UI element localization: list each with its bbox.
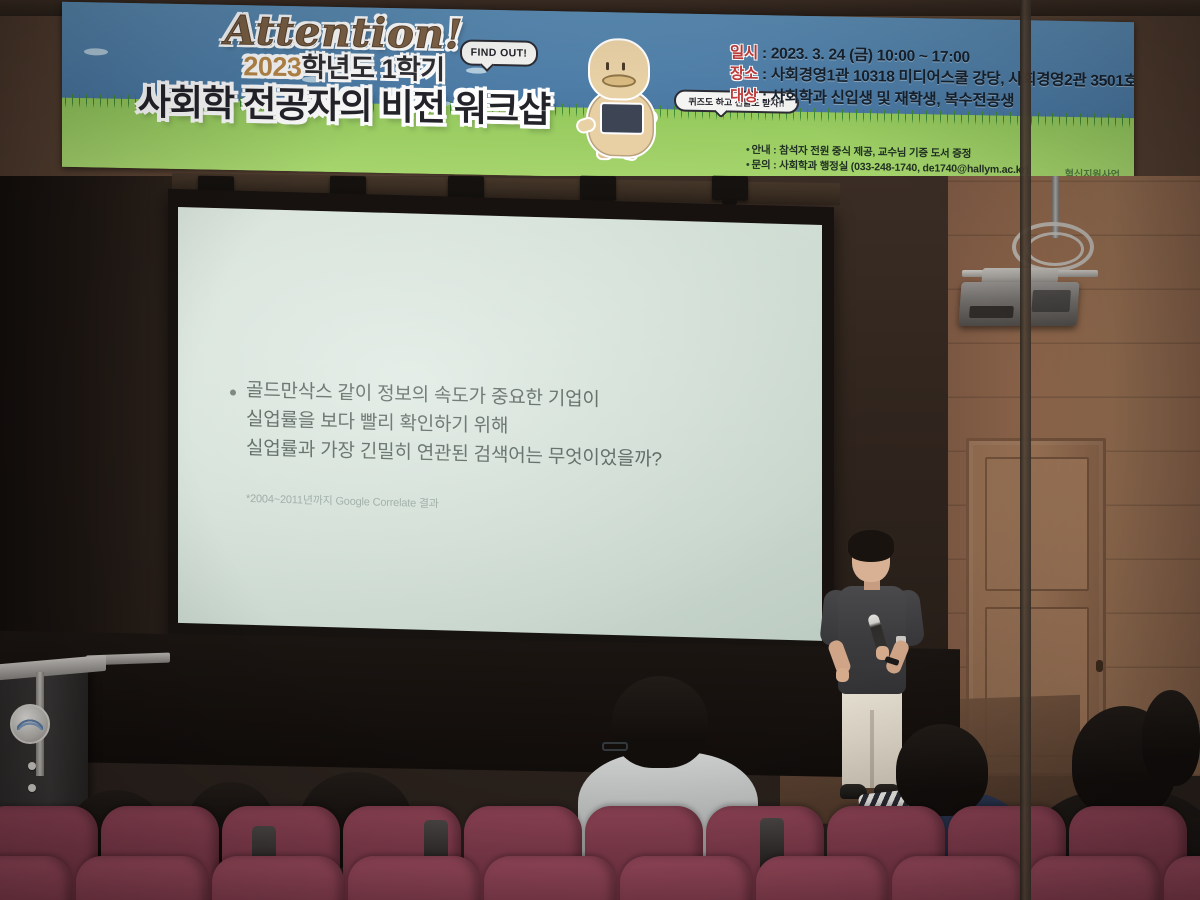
coiled-cable-icon [1026,232,1084,266]
banner-info-separator: : [762,45,771,62]
ceiling-speaker [580,176,616,201]
speech-bubble-find-out: FIND OUT! [460,39,538,66]
auditorium-seat[interactable] [620,856,752,900]
auditorium-seat[interactable] [0,856,72,900]
presenter-hair [848,530,894,560]
bullet-star-icon: • [746,144,749,156]
bullet-star-icon: • [746,159,749,171]
banner-main-title: 사회학 전공자의 비전 워크샵 [134,84,554,128]
auditorium-seat[interactable] [1164,856,1200,900]
banner-title-block: Attention! 2023학년도 1학기 사회학 전공자의 비전 워크샵 [134,9,554,128]
banner-info-value: 2023. 3. 24 (금) 10:00 ~ 17:00 [771,45,970,66]
emblem-wave-mark [17,718,43,730]
auditorium-seat[interactable] [484,856,616,900]
cloud-icon [84,48,108,55]
door-panel-upper [985,457,1089,591]
banner-year-number: 2023 [243,51,301,82]
bullet-dot-icon [230,389,236,395]
lectern-control-button[interactable] [28,784,36,792]
projector-lens-icon [969,306,1014,318]
ceiling-speaker [712,176,748,201]
banner-info-value: 사회학과 신입생 및 재학생, 복수전공생 [771,88,1014,110]
vertical-pipe [1020,0,1031,900]
auditorium-seat[interactable] [756,856,888,900]
slide-bullet-row: 골드만삭스 같이 정보의 속도가 중요한 기업이 실업률을 보다 빨리 확인하기… [230,376,790,478]
auditorium-seat[interactable] [892,856,1024,900]
slide-text-block: 골드만삭스 같이 정보의 속도가 중요한 기업이 실업률을 보다 빨리 확인하기… [246,377,662,475]
auditorium-seat[interactable] [76,856,208,900]
auditorium-seat[interactable] [1028,856,1160,900]
auditorium-seat[interactable] [212,856,344,900]
banner-info-label: 대상 [730,87,758,105]
door-handle-icon[interactable] [1096,660,1103,672]
mascot-eye-right [622,62,625,70]
eyeglasses-icon [602,742,628,751]
projection-screen: 골드만삭스 같이 정보의 속도가 중요한 기업이 실업률을 보다 빨리 확인하기… [178,207,822,643]
university-emblem-icon [10,704,50,744]
projector-vent [1031,290,1071,312]
lecture-hall-photo: Attention! 2023학년도 1학기 사회학 전공자의 비전 워크샵 F… [0,0,1200,900]
banner-year-suffix: 학년도 1학기 [301,52,444,85]
banner-info-separator: : [762,67,771,84]
mascot-vest [600,102,644,135]
banner-info-label: 일시 [730,45,758,63]
ceiling-projector [958,282,1079,326]
presenter-hand-left [836,668,849,682]
lectern-control-button[interactable] [28,762,36,770]
banner-info-label: 장소 [730,66,758,84]
slide-footnote: *2004~2011년까지 Google Correlate 결과 [246,490,790,521]
slide-content: 골드만삭스 같이 정보의 속도가 중요한 기업이 실업률을 보다 빨리 확인하기… [230,376,790,520]
mascot-head [588,38,650,101]
banner-info-separator: : [762,88,771,105]
banner-note-text: 안내 : 참석자 전원 중식 제공, 교수님 기증 도서 증정 [751,144,971,160]
audience-member-head [1142,690,1200,786]
mascot-beak [602,74,636,88]
auditorium-seat[interactable] [348,856,480,900]
audience-member-head [612,676,708,768]
duck-mascot-icon [574,36,670,163]
mascot-eye-left [606,62,609,70]
seat-row-foreground [0,856,1190,900]
audience-member-head [896,724,988,816]
event-banner: Attention! 2023학년도 1학기 사회학 전공자의 비전 워크샵 F… [62,2,1134,188]
banner-note-text: 문의 : 사회학과 행정실 (033-248-1740, de1740@hall… [751,159,1028,176]
banner-info-block: 일시 : 2023. 3. 24 (금) 10:00 ~ 17:00 장소 : … [730,43,1122,115]
presenter-pants [842,688,902,788]
